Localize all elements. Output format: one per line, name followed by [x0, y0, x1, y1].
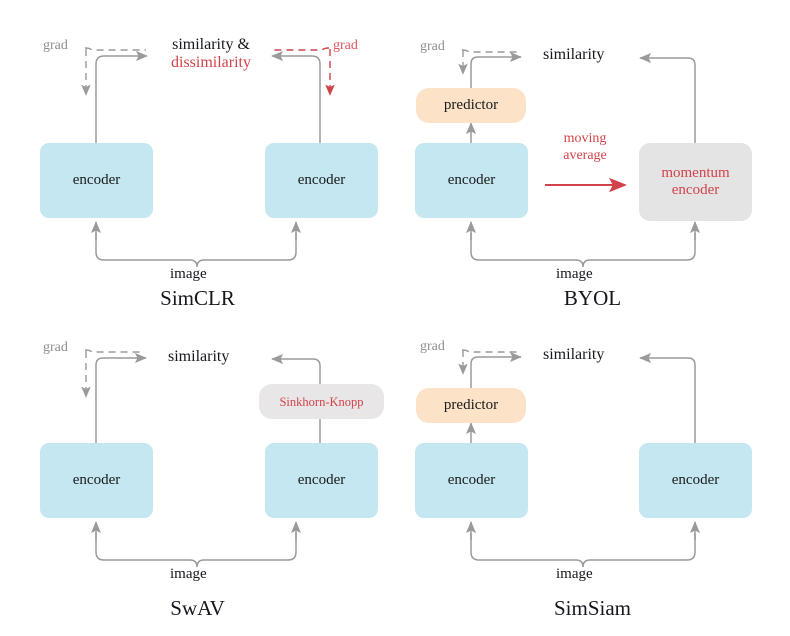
simsiam-predictor[interactable]: predictor — [416, 388, 526, 423]
swav-encoder-left[interactable]: encoder — [40, 443, 153, 518]
byol-moving-average-label: moving average — [547, 131, 623, 165]
simsiam-encoder-left[interactable]: encoder — [415, 443, 528, 518]
node-label: encoder — [298, 172, 345, 189]
simsiam-grad-label: grad — [420, 339, 445, 355]
simclr-objective-label: similarity & dissimilarity — [158, 36, 264, 73]
byol-encoder[interactable]: encoder — [415, 143, 528, 218]
simclr-grad-label-right: grad — [333, 38, 358, 54]
node-label: predictor — [444, 397, 498, 414]
panel-title-simclr: SimCLR — [0, 286, 395, 311]
simclr-encoder-right[interactable]: encoder — [265, 143, 378, 218]
swav-sinkhorn-knopp[interactable]: Sinkhorn-Knopp — [259, 384, 384, 419]
swav-grad-label: grad — [43, 340, 68, 356]
objective-line-1: similarity & — [172, 36, 250, 53]
node-label-line-2: encoder — [672, 182, 719, 199]
swav-image-label: image — [170, 566, 207, 583]
simsiam-objective-label: similarity — [543, 346, 604, 364]
node-label-line-1: momentum — [661, 165, 729, 182]
objective-line-2: dissimilarity — [158, 54, 264, 72]
simclr-encoder-left[interactable]: encoder — [40, 143, 153, 218]
node-label: encoder — [298, 472, 345, 489]
simclr-image-label: image — [170, 266, 207, 283]
byol-objective-label: similarity — [543, 46, 604, 64]
node-label: encoder — [73, 472, 120, 489]
simsiam-encoder-right[interactable]: encoder — [639, 443, 752, 518]
panel-title-simsiam: SimSiam — [395, 596, 790, 621]
simclr-grad-label-left: grad — [43, 38, 68, 54]
byol-image-label: image — [556, 266, 593, 283]
node-label: predictor — [444, 97, 498, 114]
moving-average-line-2: average — [563, 148, 607, 163]
byol-momentum-encoder[interactable]: momentum encoder — [639, 143, 752, 221]
ssl-framework-comparison-figure: encoder encoder grad grad similarity & d… — [0, 0, 790, 636]
byol-predictor[interactable]: predictor — [416, 88, 526, 123]
swav-objective-label: similarity — [168, 348, 229, 366]
panel-simclr: encoder encoder grad grad similarity & d… — [0, 0, 395, 318]
node-label: Sinkhorn-Knopp — [279, 395, 363, 409]
panel-title-byol: BYOL — [395, 286, 790, 311]
node-label: encoder — [672, 472, 719, 489]
simsiam-image-label: image — [556, 566, 593, 583]
panel-byol: predictor encoder momentum encoder grad … — [395, 0, 790, 318]
byol-grad-label: grad — [420, 39, 445, 55]
node-label: encoder — [73, 172, 120, 189]
panel-title-swav: SwAV — [0, 596, 395, 621]
panel-simsiam: predictor encoder encoder grad similarit… — [395, 318, 790, 636]
panel-swav: encoder encoder Sinkhorn-Knopp grad simi… — [0, 318, 395, 636]
node-label: encoder — [448, 472, 495, 489]
swav-encoder-right[interactable]: encoder — [265, 443, 378, 518]
node-label: encoder — [448, 172, 495, 189]
moving-average-line-1: moving — [564, 131, 607, 146]
